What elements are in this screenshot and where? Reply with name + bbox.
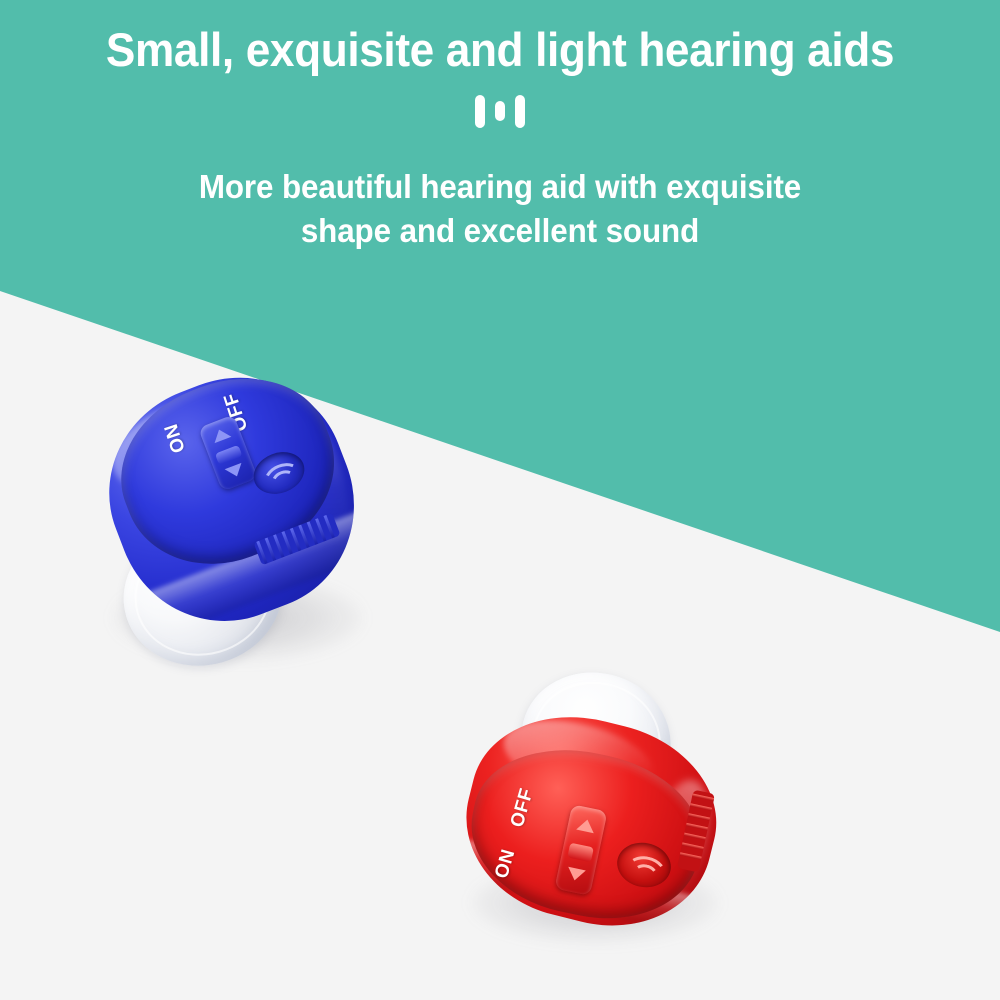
grip-tooth: [684, 833, 706, 841]
product-banner-page: Small, exquisite and light hearing aids …: [0, 0, 1000, 1000]
grip-tooth: [690, 803, 712, 811]
blue-rocker-up-chevron-icon[interactable]: [211, 426, 232, 443]
blue-hearing-aid[interactable]: ON OFF: [105, 375, 385, 675]
red-rocker-nub[interactable]: [567, 843, 593, 863]
grip-tooth: [680, 852, 702, 860]
grip-tooth: [682, 842, 704, 850]
grip-tooth: [688, 813, 710, 821]
grip-tooth: [692, 793, 714, 801]
grip-tooth: [686, 823, 708, 831]
red-hearing-aid[interactable]: OFF ON: [445, 665, 745, 955]
blue-rocker-nub[interactable]: [215, 445, 243, 465]
red-rocker-down-chevron-icon[interactable]: [566, 867, 586, 882]
grip-tooth: [324, 515, 335, 538]
red-rocker-up-chevron-icon[interactable]: [576, 818, 596, 833]
blue-rocker-down-chevron-icon[interactable]: [225, 463, 246, 480]
